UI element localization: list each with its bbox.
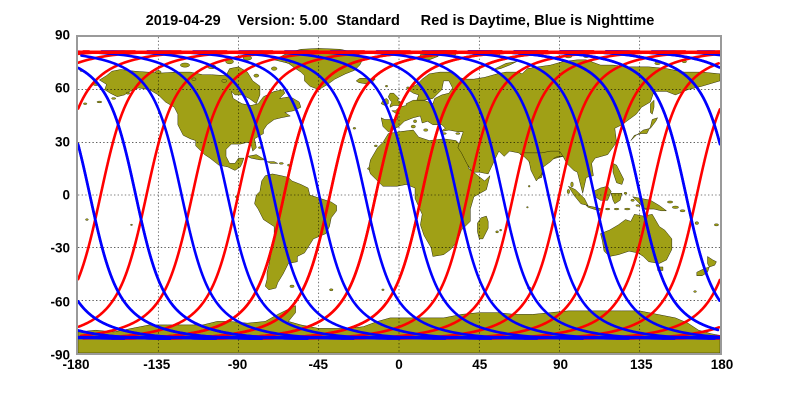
landmass-sakhalin	[650, 100, 654, 114]
y-tick-30: 30	[10, 134, 70, 149]
x-tick--45: -45	[308, 357, 328, 372]
island-43	[222, 79, 227, 82]
ground-track-map-figure: 2019-04-29 Version: 5.00 Standard Red is…	[0, 0, 800, 400]
x-tick--90: -90	[228, 357, 248, 372]
landmass-philippines	[613, 163, 624, 184]
island-59	[126, 92, 130, 94]
island-9	[624, 208, 630, 210]
landmass-sulawesi	[611, 193, 622, 204]
island-13	[667, 201, 672, 203]
island-27	[411, 125, 415, 128]
island-21	[288, 164, 290, 166]
island-15	[680, 210, 685, 212]
island-24	[374, 145, 377, 147]
island-28	[413, 120, 416, 123]
x-tick-90: 90	[553, 357, 568, 372]
y-tick--60: -60	[10, 294, 70, 309]
plot-area	[76, 35, 722, 355]
landmass-cuba	[247, 155, 265, 160]
island-39	[180, 63, 189, 67]
island-1	[329, 289, 333, 291]
y-tick-90: 90	[10, 28, 70, 43]
island-35	[624, 192, 627, 194]
south-polar-nighttime-band	[78, 336, 720, 340]
x-tick--180: -180	[62, 357, 89, 372]
x-tick-45: 45	[472, 357, 487, 372]
island-23	[279, 163, 283, 165]
island-16	[695, 222, 699, 225]
island-7	[527, 207, 529, 208]
landmass-south-america	[255, 174, 337, 290]
island-56	[83, 103, 87, 105]
map-svg	[78, 37, 720, 353]
x-tick-0: 0	[395, 357, 403, 372]
x-tick-135: 135	[630, 357, 653, 372]
north-polar-daytime-band	[78, 51, 720, 55]
island-61	[433, 91, 436, 93]
island-46	[271, 67, 277, 71]
y-tick--90: -90	[10, 348, 70, 363]
island-58	[112, 98, 116, 100]
island-14	[672, 206, 678, 208]
island-2	[694, 291, 697, 293]
island-11	[605, 208, 610, 210]
island-34	[567, 189, 569, 193]
island-0	[290, 285, 294, 287]
island-5	[496, 231, 499, 233]
landmass-japan	[631, 118, 658, 141]
landmass-hispaniola	[267, 162, 278, 164]
island-31	[456, 133, 460, 135]
island-6	[500, 229, 502, 231]
island-45	[254, 74, 259, 77]
island-26	[353, 127, 356, 129]
island-10	[614, 208, 619, 210]
island-17	[714, 224, 718, 226]
island-25	[367, 168, 369, 170]
island-33	[571, 182, 573, 187]
island-19	[130, 224, 132, 225]
island-18	[85, 219, 88, 221]
y-tick-0: 0	[10, 188, 70, 203]
island-62	[385, 85, 387, 87]
x-tick-180: 180	[711, 357, 734, 372]
island-8	[528, 185, 530, 187]
y-tick--30: -30	[10, 241, 70, 256]
x-tick--135: -135	[143, 357, 170, 372]
island-29	[424, 129, 428, 131]
y-tick-60: 60	[10, 81, 70, 96]
island-57	[97, 101, 102, 103]
island-44	[192, 78, 196, 80]
landmass-sumatra	[568, 186, 588, 205]
island-12	[636, 205, 640, 207]
island-4	[382, 289, 384, 291]
landmass-new-zealand-n	[708, 256, 717, 267]
landmass-java	[586, 206, 602, 211]
chart-title: 2019-04-29 Version: 5.00 Standard Red is…	[0, 13, 800, 29]
island-36	[631, 199, 635, 201]
map-canvas	[78, 37, 720, 353]
